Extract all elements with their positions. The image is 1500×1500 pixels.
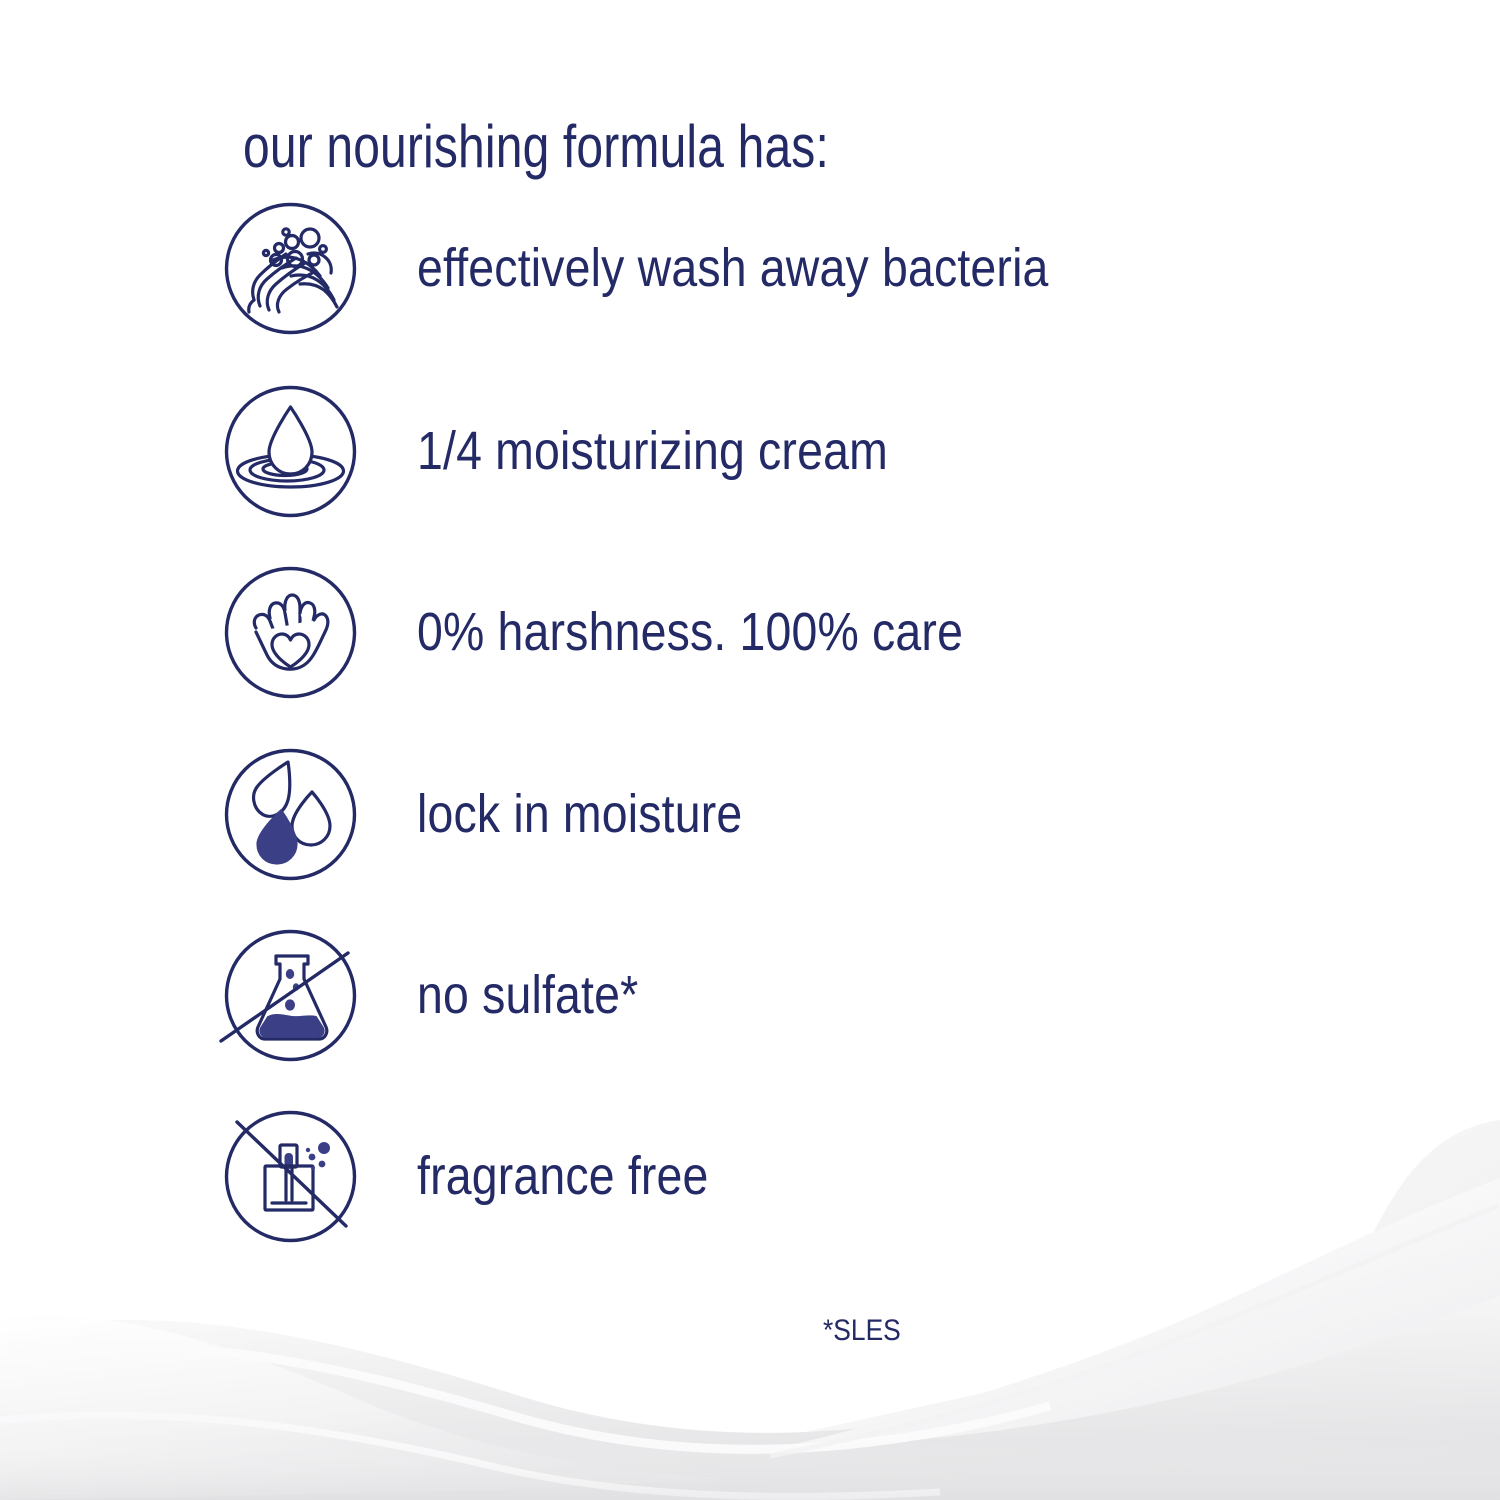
no-flask-icon bbox=[224, 929, 357, 1062]
list-item: 1/4 moisturizing cream bbox=[224, 381, 1324, 521]
hand-with-heart-icon bbox=[224, 566, 357, 699]
benefit-label: lock in moisture bbox=[417, 783, 742, 845]
washing-hands-bubbles-icon bbox=[224, 202, 357, 335]
benefit-label: fragrance free bbox=[417, 1145, 709, 1207]
benefit-label: 0% harshness. 100% care bbox=[417, 601, 963, 663]
page-title: our nourishing formula has: bbox=[243, 112, 829, 181]
product-benefits-panel: our nourishing formula has: bbox=[0, 0, 1500, 1500]
benefit-label: effectively wash away bacteria bbox=[417, 237, 1049, 299]
water-droplet-ripple-icon bbox=[224, 385, 357, 518]
list-item: lock in moisture bbox=[224, 744, 1324, 884]
list-item: effectively wash away bacteria bbox=[224, 198, 1324, 338]
list-item: no sulfate* bbox=[224, 925, 1324, 1065]
benefit-label: 1/4 moisturizing cream bbox=[417, 420, 888, 482]
benefit-label: no sulfate* bbox=[417, 964, 638, 1026]
list-item: fragrance free bbox=[224, 1106, 1324, 1246]
list-item: 0% harshness. 100% care bbox=[224, 562, 1324, 702]
no-perfume-bottle-icon bbox=[224, 1110, 357, 1243]
footnote-sles: *SLES bbox=[823, 1314, 901, 1348]
three-droplets-icon bbox=[224, 748, 357, 881]
